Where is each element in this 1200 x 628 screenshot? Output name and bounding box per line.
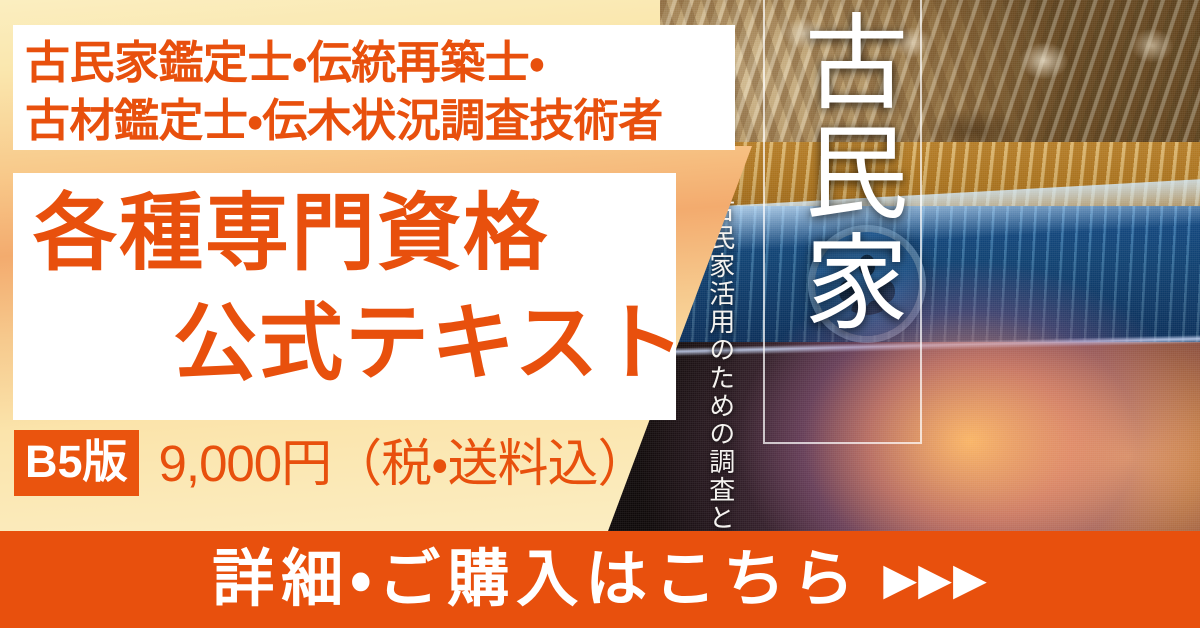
headline-line-2: 公式テキスト (173, 301, 686, 385)
triple-chevron-right-icon: ▶▶▶ (883, 558, 988, 602)
price-row: B5版 9,000円（税・送料込） (14, 430, 648, 496)
book-title: 古民家 (772, 8, 912, 338)
headline-line-1: 各種専門資格 (33, 191, 549, 275)
caption-line-1: 古民家鑑定士・伝統再築士・ (13, 25, 735, 92)
headline-box: 各種専門資格 公式テキスト (13, 173, 676, 420)
cta-button[interactable]: 詳細・ご購入はこちら ▶▶▶ (0, 531, 1200, 628)
qualifications-caption-box: 古民家鑑定士・伝統再築士・ 古材鑑定士・伝木状況調査技術者 (13, 25, 735, 150)
promo-banner: 古民家 伝統構法、古民家活用のための調査と再生の 古民家鑑定士・伝統再築士・ 古… (0, 0, 1200, 628)
price-amount: 9,000円（税・送料込） (159, 438, 648, 489)
format-badge: B5版 (14, 430, 139, 496)
caption-line-2: 古材鑑定士・伝木状況調査技術者 (13, 92, 735, 150)
cta-label: 詳細・ご購入はこちら (212, 549, 861, 611)
